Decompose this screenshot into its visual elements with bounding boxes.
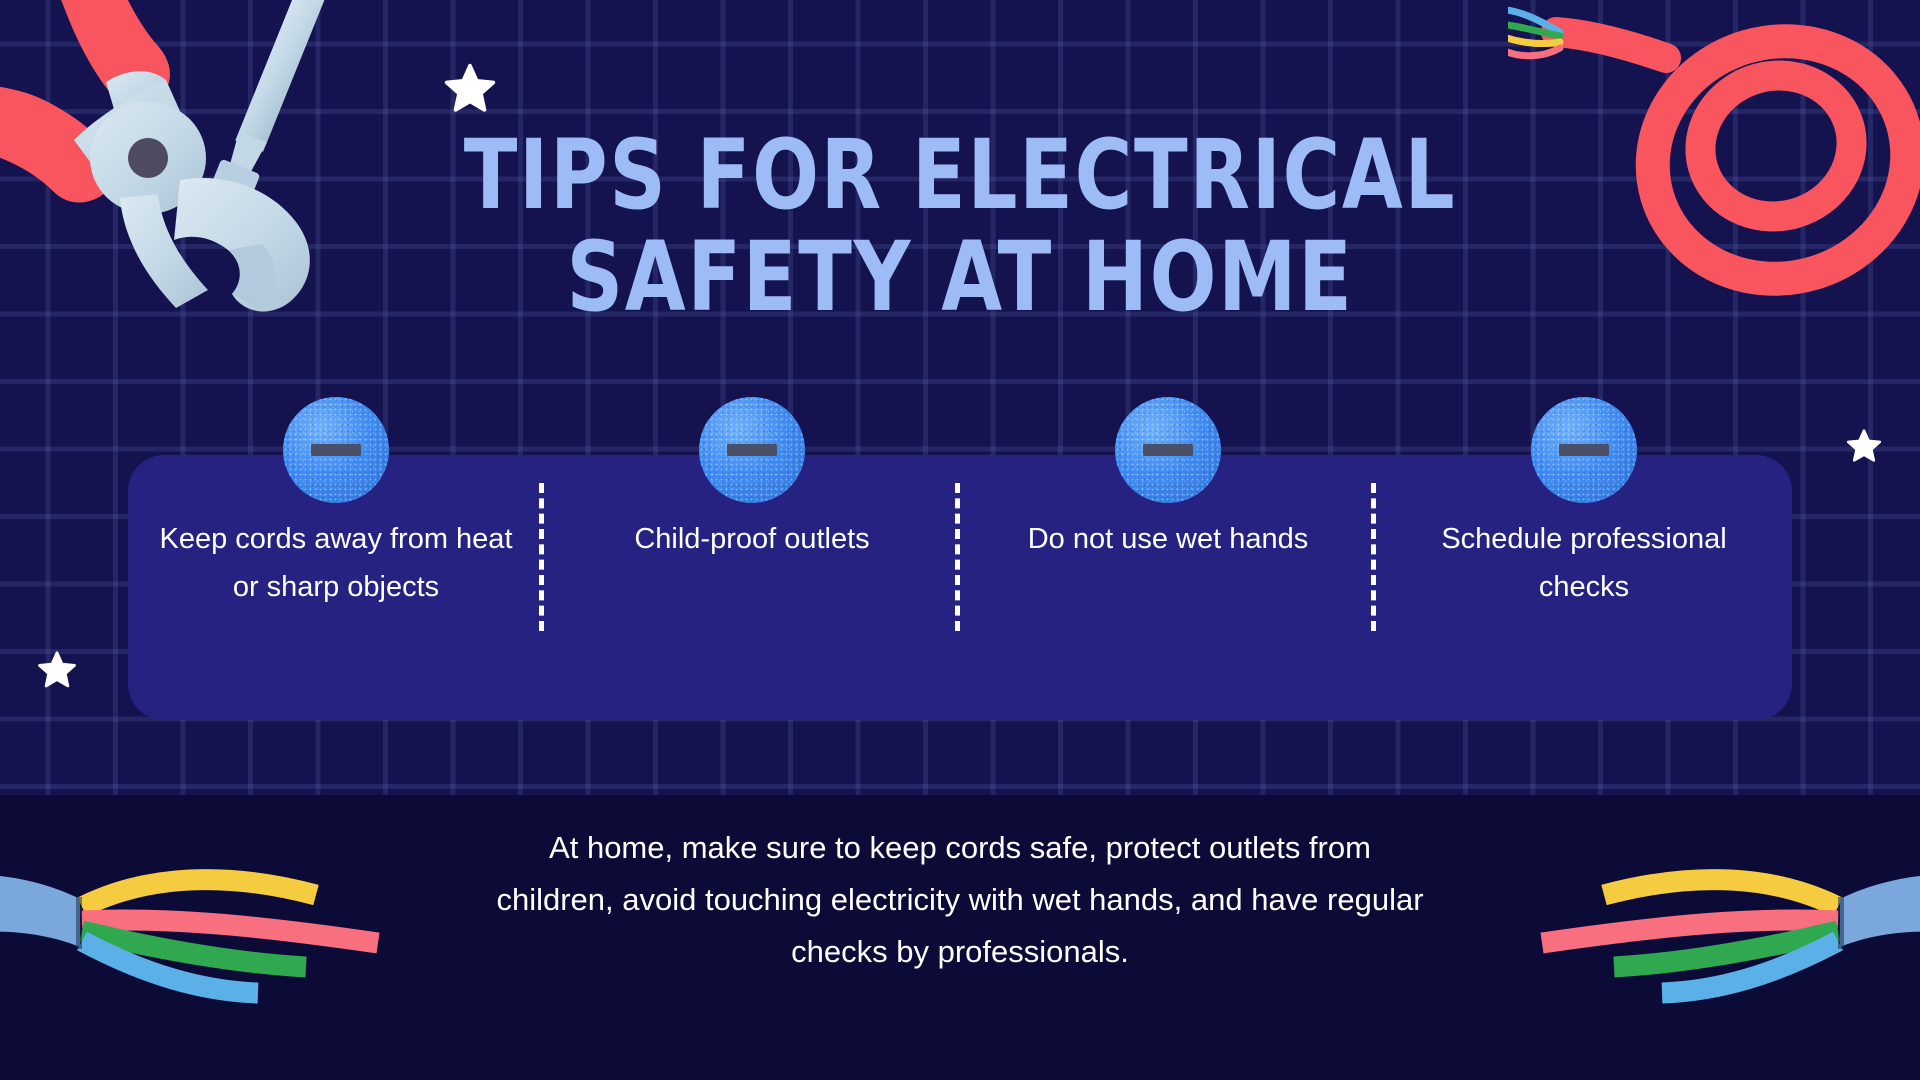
tips-list: Keep cords away from heat or sharp objec…	[128, 455, 1792, 720]
star-icon	[1845, 428, 1883, 471]
star-icon	[36, 650, 78, 697]
tip-label: Keep cords away from heat or sharp objec…	[157, 515, 515, 611]
minus-icon	[699, 397, 805, 503]
infographic-poster: Tips for Electrical Safety at Home Keep …	[0, 0, 1920, 1080]
minus-icon	[283, 397, 389, 503]
minus-bar	[1143, 444, 1193, 456]
tip-item[interactable]: Keep cords away from heat or sharp objec…	[128, 455, 544, 720]
star-icon	[442, 62, 498, 123]
minus-bar	[727, 444, 777, 456]
tip-label: Do not use wet hands	[989, 515, 1347, 563]
minus-icon	[1531, 397, 1637, 503]
page-title: Tips for Electrical Safety at Home	[173, 124, 1747, 328]
title-line-2: Safety at Home	[173, 226, 1747, 328]
stripped-cable-right-icon	[1534, 851, 1920, 1046]
summary-paragraph: At home, make sure to keep cords safe, p…	[490, 822, 1430, 978]
tip-item[interactable]: Schedule professional checks	[1376, 455, 1792, 720]
tip-item[interactable]: Child-proof outlets	[544, 455, 960, 720]
tip-item[interactable]: Do not use wet hands	[960, 455, 1376, 720]
minus-icon	[1115, 397, 1221, 503]
tip-label: Child-proof outlets	[573, 515, 931, 563]
tip-label: Schedule professional checks	[1405, 515, 1763, 611]
stripped-cable-left-icon	[0, 851, 386, 1046]
minus-bar	[1559, 444, 1609, 456]
minus-bar	[311, 444, 361, 456]
title-line-1: Tips for Electrical	[173, 124, 1747, 226]
